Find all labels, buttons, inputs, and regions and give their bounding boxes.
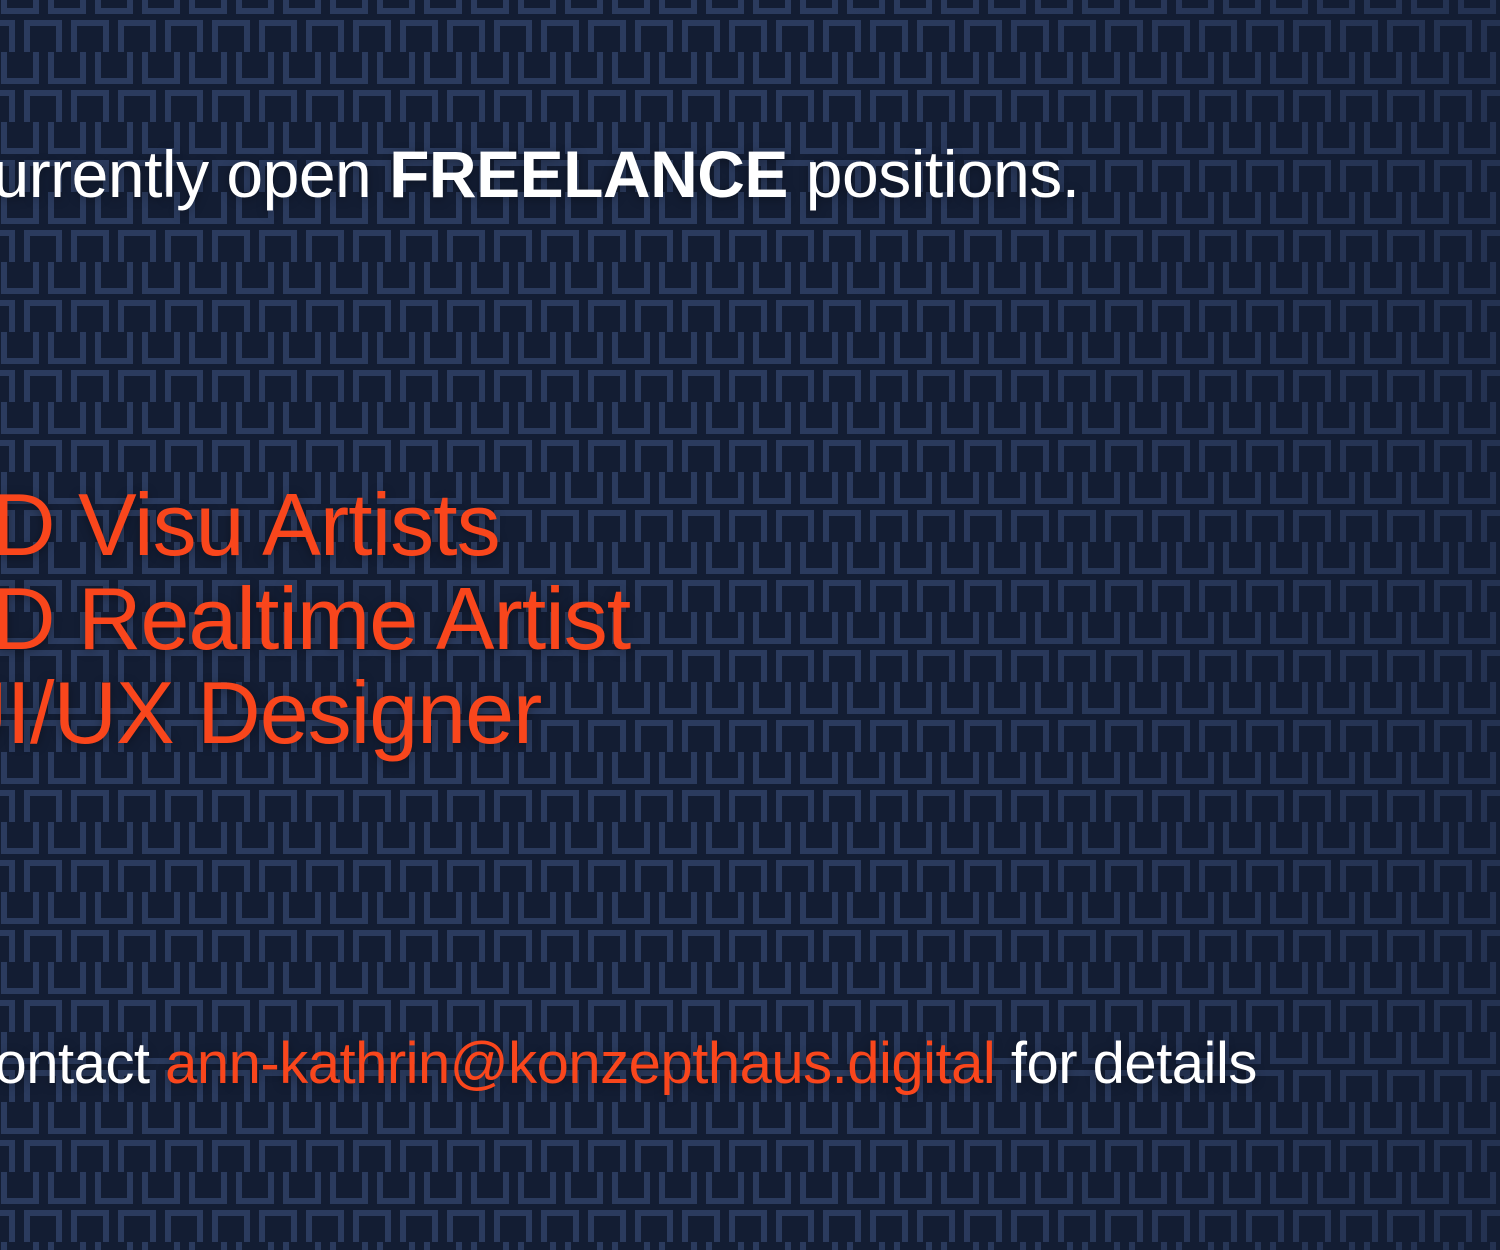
headline-space-1 [371, 137, 389, 211]
headline-prefix: currently open [0, 137, 371, 211]
role-item-1: 3D Visu Artists [0, 478, 630, 572]
contact-line: contact ann-kathrin@konzepthaus.digital … [0, 1032, 1257, 1096]
contact-space-2 [995, 1031, 1011, 1096]
role-item-3: UI/UX Designer [0, 666, 630, 760]
headline-space-2 [788, 137, 806, 211]
role-item-2: 3D Realtime Artist [0, 572, 630, 666]
contact-suffix: for details [1011, 1031, 1257, 1096]
headline-suffix: positions. [806, 137, 1080, 211]
freelance-positions-slide: currently open FREELANCE positions. 3D V… [0, 0, 1500, 1250]
contact-prefix: contact [0, 1031, 150, 1096]
contact-email-link[interactable]: ann-kathrin@konzepthaus.digital [165, 1031, 995, 1096]
contact-space-1 [150, 1031, 166, 1096]
open-roles-list: 3D Visu Artists 3D Realtime Artist UI/UX… [0, 478, 630, 760]
headline: currently open FREELANCE positions. [0, 140, 1080, 209]
headline-emphasis: FREELANCE [389, 137, 788, 211]
